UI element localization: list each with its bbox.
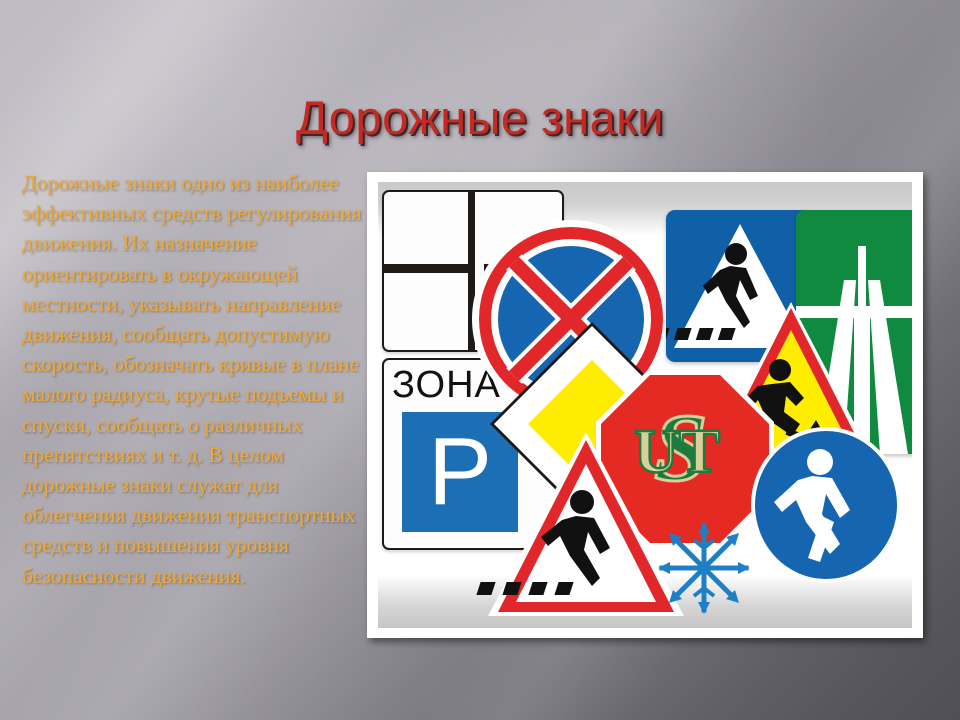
photo-frame: ЗОНА P [367, 172, 923, 638]
snowflake-symbol [656, 520, 752, 616]
page-title: Дорожные знаки [0, 90, 960, 145]
footpath-sign [750, 426, 902, 584]
presentation-slide: Дорожные знаки Дорожные знаки одно из на… [0, 0, 960, 720]
road-signs-collage: ЗОНА P [378, 182, 912, 628]
body-paragraph: Дорожные знаки одно из наиболее эффектив… [22, 168, 362, 591]
